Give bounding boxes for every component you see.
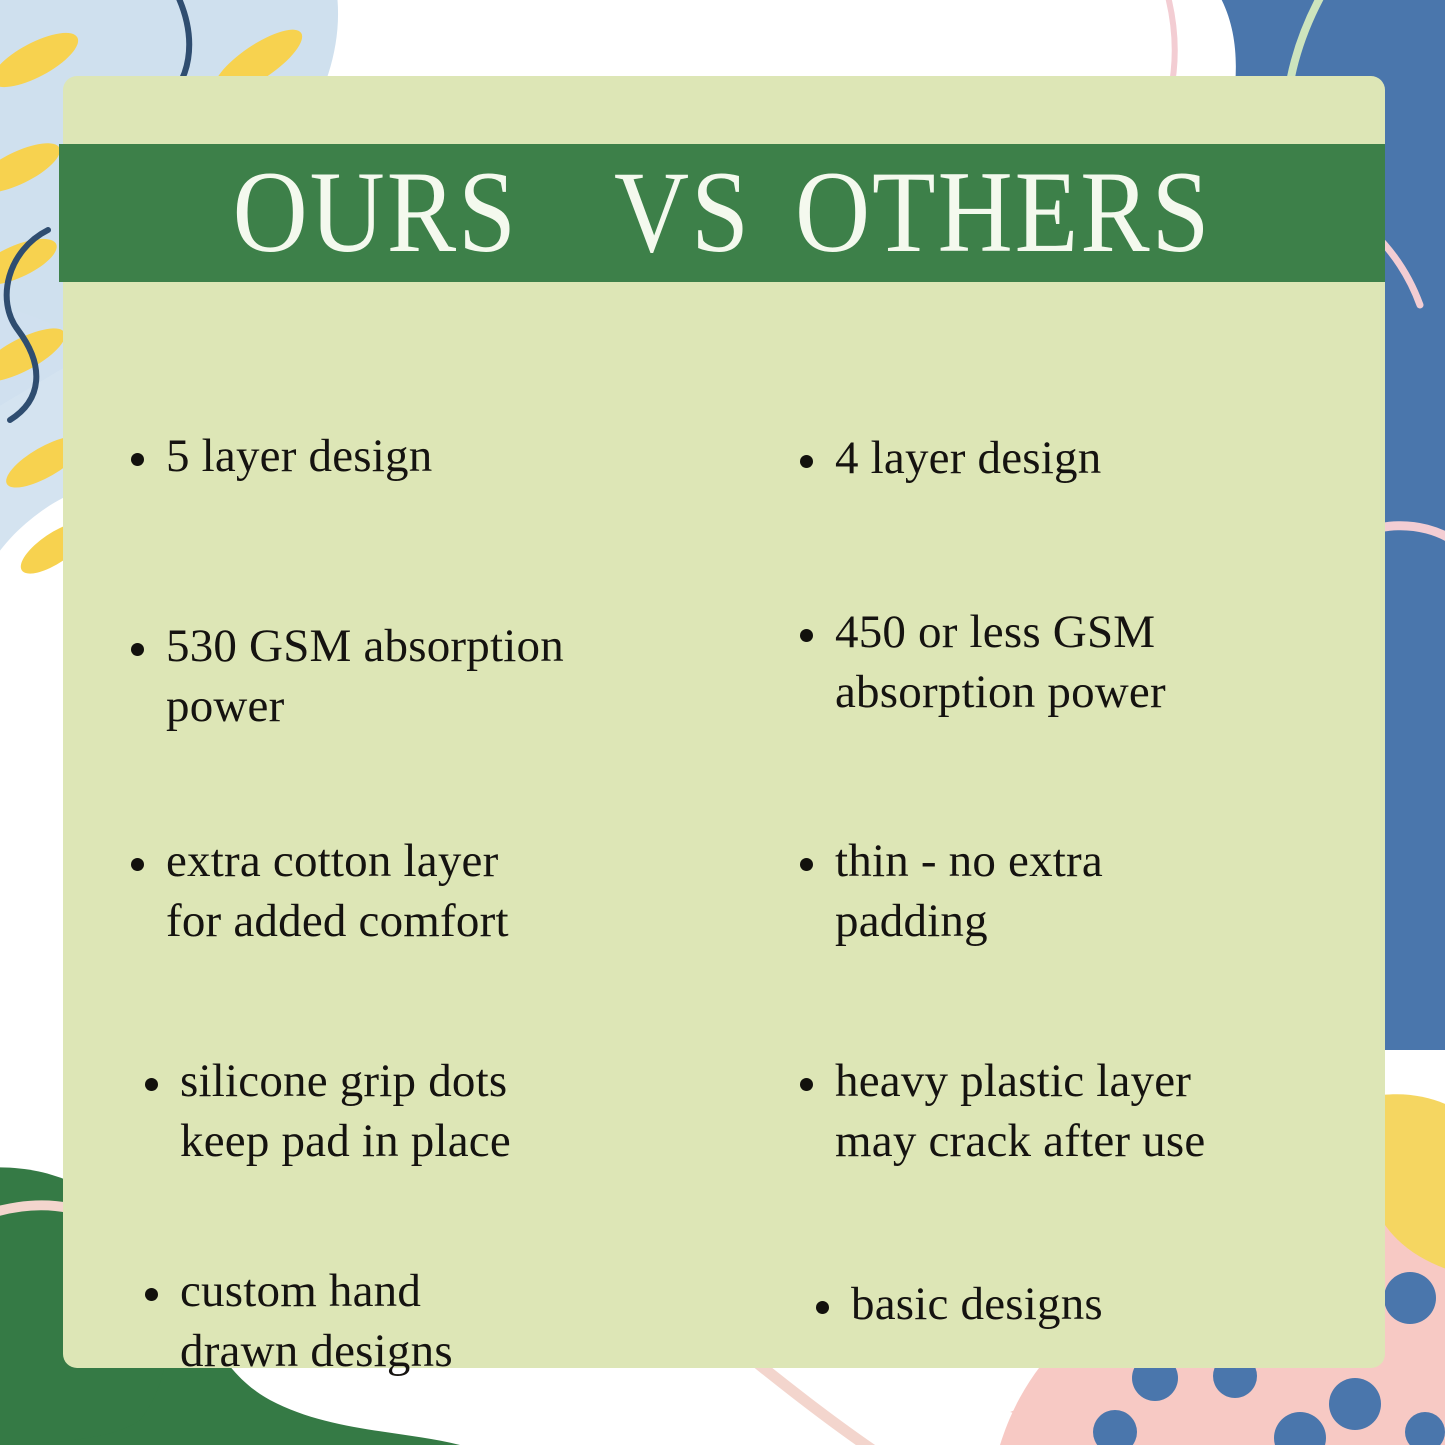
ours-column: 5 layer design 530 GSM absorption power … [63,306,724,1366]
others-list-item: 450 or less GSM absorption power [800,602,1166,722]
ours-item-text: 530 GSM absorption power [166,616,564,736]
bullet-dot-icon [800,455,813,468]
bullet-dot-icon [131,643,144,656]
bullet-dot-icon [800,858,813,871]
banner-others-label: OTHERS [795,148,1211,277]
others-item-text: thin - no extra padding [835,831,1103,951]
bullet-dot-icon [131,453,144,466]
comparison-card: OURSVSOTHERS 5 layer design 530 GSM abso… [63,76,1385,1368]
ours-list-item: extra cotton layer for added comfort [131,831,509,951]
others-column: 4 layer design 450 or less GSM absorptio… [724,306,1385,1366]
others-item-text: heavy plastic layer may crack after use [835,1051,1205,1171]
header-banner: OURSVSOTHERS [59,144,1385,282]
banner-vs-label: VS [614,148,751,277]
others-list-item: thin - no extra padding [800,831,1103,951]
others-item-text: 450 or less GSM absorption power [835,602,1166,722]
ours-item-text: 5 layer design [166,426,432,486]
banner-ours-label: OURS [233,148,518,277]
bullet-dot-icon [800,629,813,642]
bullet-dot-icon [816,1301,829,1314]
ours-item-text: silicone grip dots keep pad in place [180,1051,511,1171]
banner-title: OURSVSOTHERS [233,155,1212,271]
others-list-item: heavy plastic layer may crack after use [800,1051,1205,1171]
bullet-dot-icon [145,1078,158,1091]
bullet-dot-icon [145,1288,158,1301]
others-list-item: basic designs [816,1274,1103,1334]
ours-list-item: 530 GSM absorption power [131,616,564,736]
others-item-text: basic designs [851,1274,1103,1334]
ours-list-item: 5 layer design [131,426,432,486]
others-list-item: 4 layer design [800,428,1101,488]
ours-item-text: extra cotton layer for added comfort [166,831,509,951]
bullet-dot-icon [131,858,144,871]
infographic-canvas: OURSVSOTHERS 5 layer design 530 GSM abso… [0,0,1445,1445]
ours-item-text: custom hand drawn designs [180,1261,453,1381]
ours-list-item: silicone grip dots keep pad in place [145,1051,511,1171]
comparison-columns: 5 layer design 530 GSM absorption power … [63,306,1385,1366]
others-item-text: 4 layer design [835,428,1101,488]
ours-list-item: custom hand drawn designs [145,1261,453,1381]
bullet-dot-icon [800,1078,813,1091]
